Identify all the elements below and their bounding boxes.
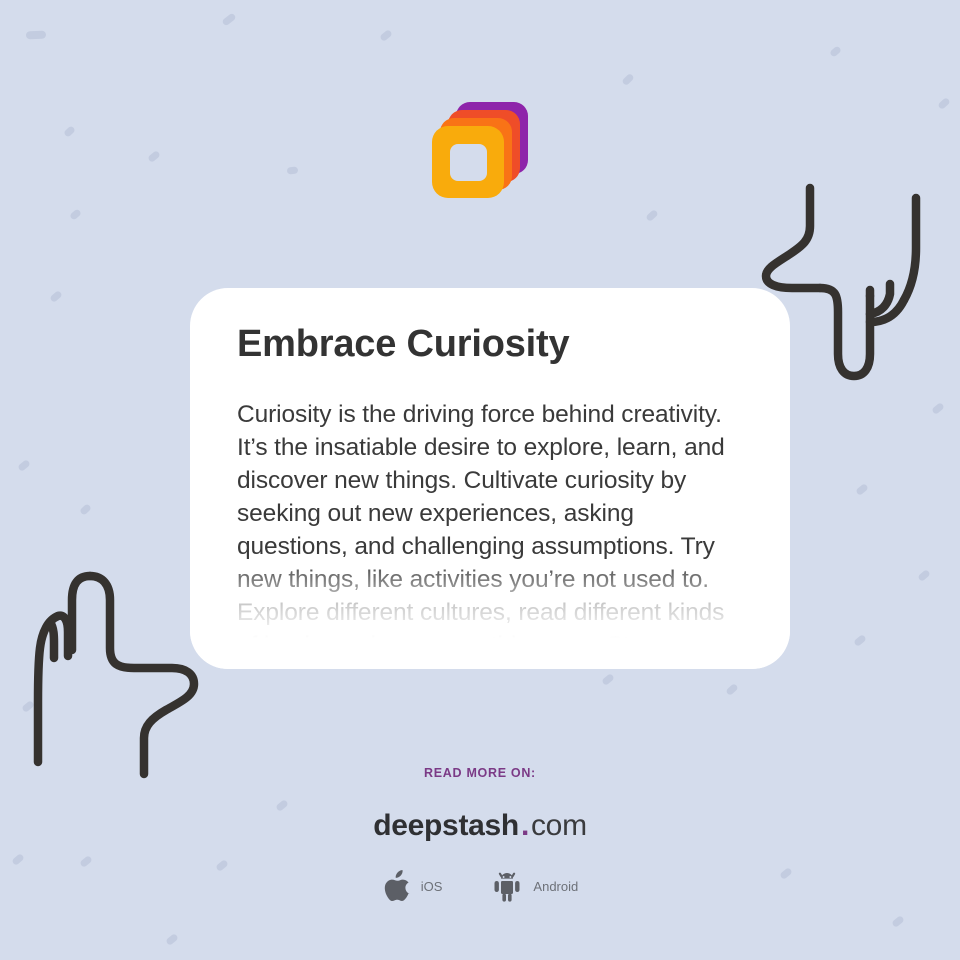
store-badges: iOS — [0, 869, 960, 903]
hand-pointing-up-icon — [14, 556, 214, 782]
brand-logo — [0, 102, 960, 198]
wordmark-dot: . — [519, 809, 531, 842]
store-label-android: Android — [533, 879, 578, 894]
store-badge-android[interactable]: Android — [490, 869, 578, 903]
card-body-text: Curiosity is the driving force behind cr… — [237, 398, 744, 669]
android-icon — [490, 869, 524, 903]
wordmark-brand: deepstash — [373, 809, 519, 842]
logo-cutout — [450, 144, 487, 181]
footer: READ MORE ON: deepstash.com iOS — [0, 766, 960, 903]
idea-card: Embrace Curiosity Curiosity is the drivi… — [190, 288, 790, 669]
deepstash-wordmark[interactable]: deepstash.com — [0, 809, 960, 843]
wordmark-tld: com — [531, 809, 587, 842]
poster-canvas: Embrace Curiosity Curiosity is the drivi… — [0, 0, 960, 960]
store-label-ios: iOS — [421, 879, 443, 894]
apple-icon — [382, 869, 412, 903]
store-badge-ios[interactable]: iOS — [382, 869, 443, 903]
card-title: Embrace Curiosity — [237, 322, 744, 368]
read-more-label: READ MORE ON: — [0, 766, 960, 780]
